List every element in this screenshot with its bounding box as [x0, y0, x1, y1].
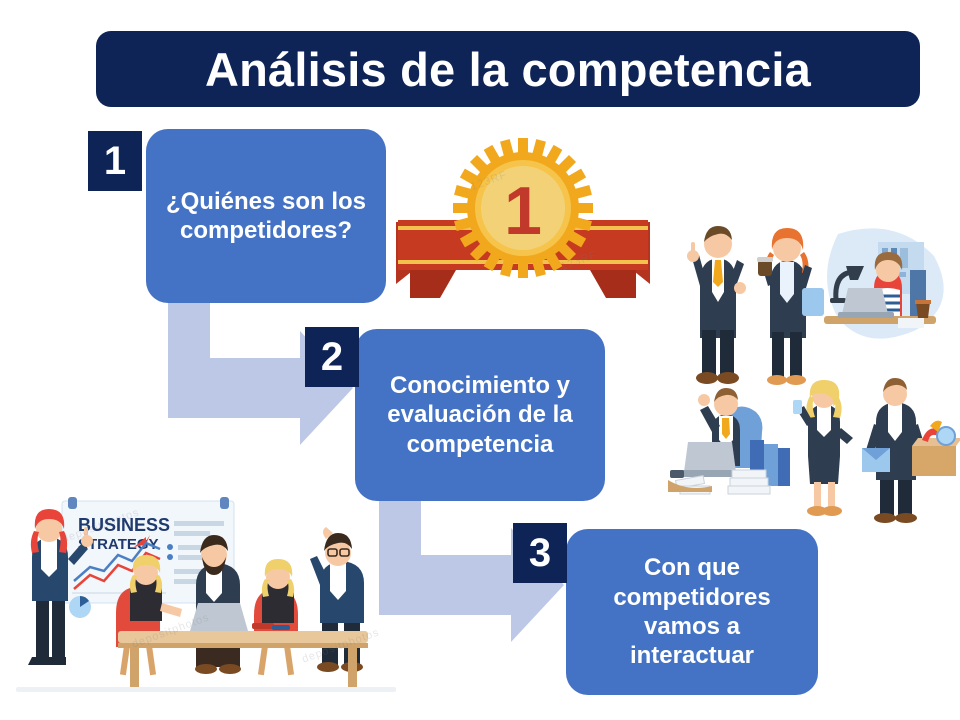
page-title: Análisis de la competencia [205, 46, 811, 93]
step-box-1-label: ¿Quiénes son los competidores? [160, 187, 372, 246]
step-box-1[interactable]: ¿Quiénes son los competidores? [146, 129, 386, 303]
step-box-2-label: Conocimiento y evaluación de la competen… [369, 371, 591, 459]
medal-number: 1 [504, 173, 542, 249]
business-people-illustration-top [660, 212, 960, 392]
step-box-3-label: Con que competidores vamos a interactuar [580, 553, 804, 670]
step-box-2[interactable]: Conocimiento y evaluación de la competen… [355, 329, 605, 501]
business-strategy-meeting-illustration: BUSINESS STRATEGY [10, 495, 405, 695]
step-number-badge-2: 2 [305, 327, 359, 387]
step-box-3[interactable]: Con que competidores vamos a interactuar [566, 529, 818, 695]
gold-medal-icon: 1 [396, 134, 650, 316]
slide-canvas: Análisis de la competencia [0, 0, 960, 720]
business-people-illustration-middle [666, 378, 960, 530]
slide-title-bar: Análisis de la competencia [96, 31, 920, 107]
step-number-badge-3: 3 [513, 523, 567, 583]
step-number-badge-1: 1 [88, 131, 142, 191]
whiteboard-title-line1: BUSINESS [78, 515, 170, 535]
